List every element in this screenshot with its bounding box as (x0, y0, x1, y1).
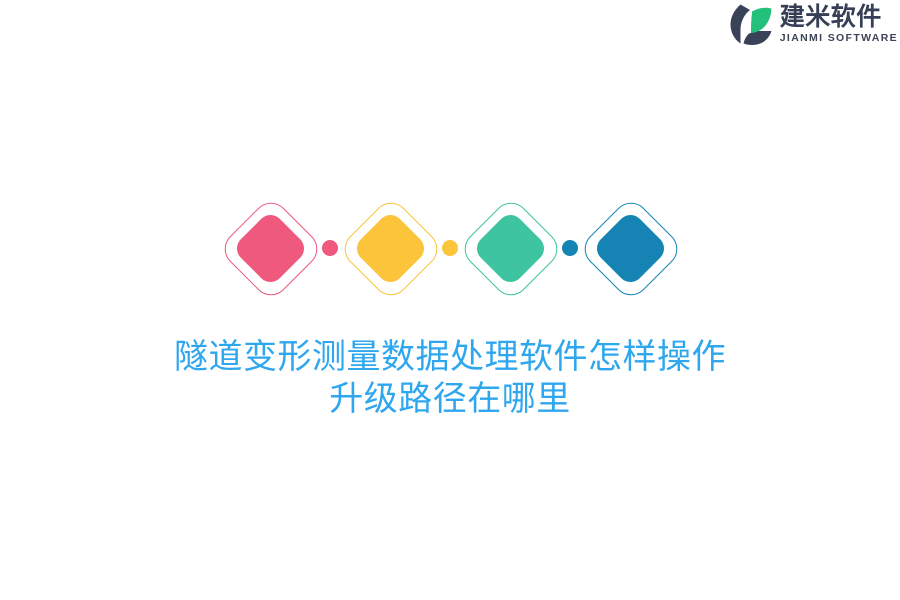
diamond-pink (212, 190, 328, 306)
page-title-line-2: 升级路径在哪里 (0, 378, 900, 420)
page-title: 隧道变形测量数据处理软件怎样操作 升级路径在哪里 (0, 336, 900, 420)
brand-text-group: 建米软件 JIANMI SOFTWARE (780, 4, 898, 44)
page-title-line-1: 隧道变形测量数据处理软件怎样操作 (0, 336, 900, 378)
brand-logo[interactable]: 建米软件 JIANMI SOFTWARE (728, 0, 898, 48)
diamond-green (452, 190, 568, 306)
jianmi-leaf-shield-icon (728, 2, 774, 46)
diamond-blue (572, 190, 688, 306)
diamond-yellow (332, 190, 448, 306)
page-root: 建米软件 JIANMI SOFTWARE 隧道变形测量数据处理软件怎样操作 升级… (0, 0, 900, 600)
four-diamond-process-graphic (0, 189, 900, 307)
brand-name: 建米软件 (780, 4, 898, 30)
brand-subtitle: JIANMI SOFTWARE (780, 33, 898, 44)
